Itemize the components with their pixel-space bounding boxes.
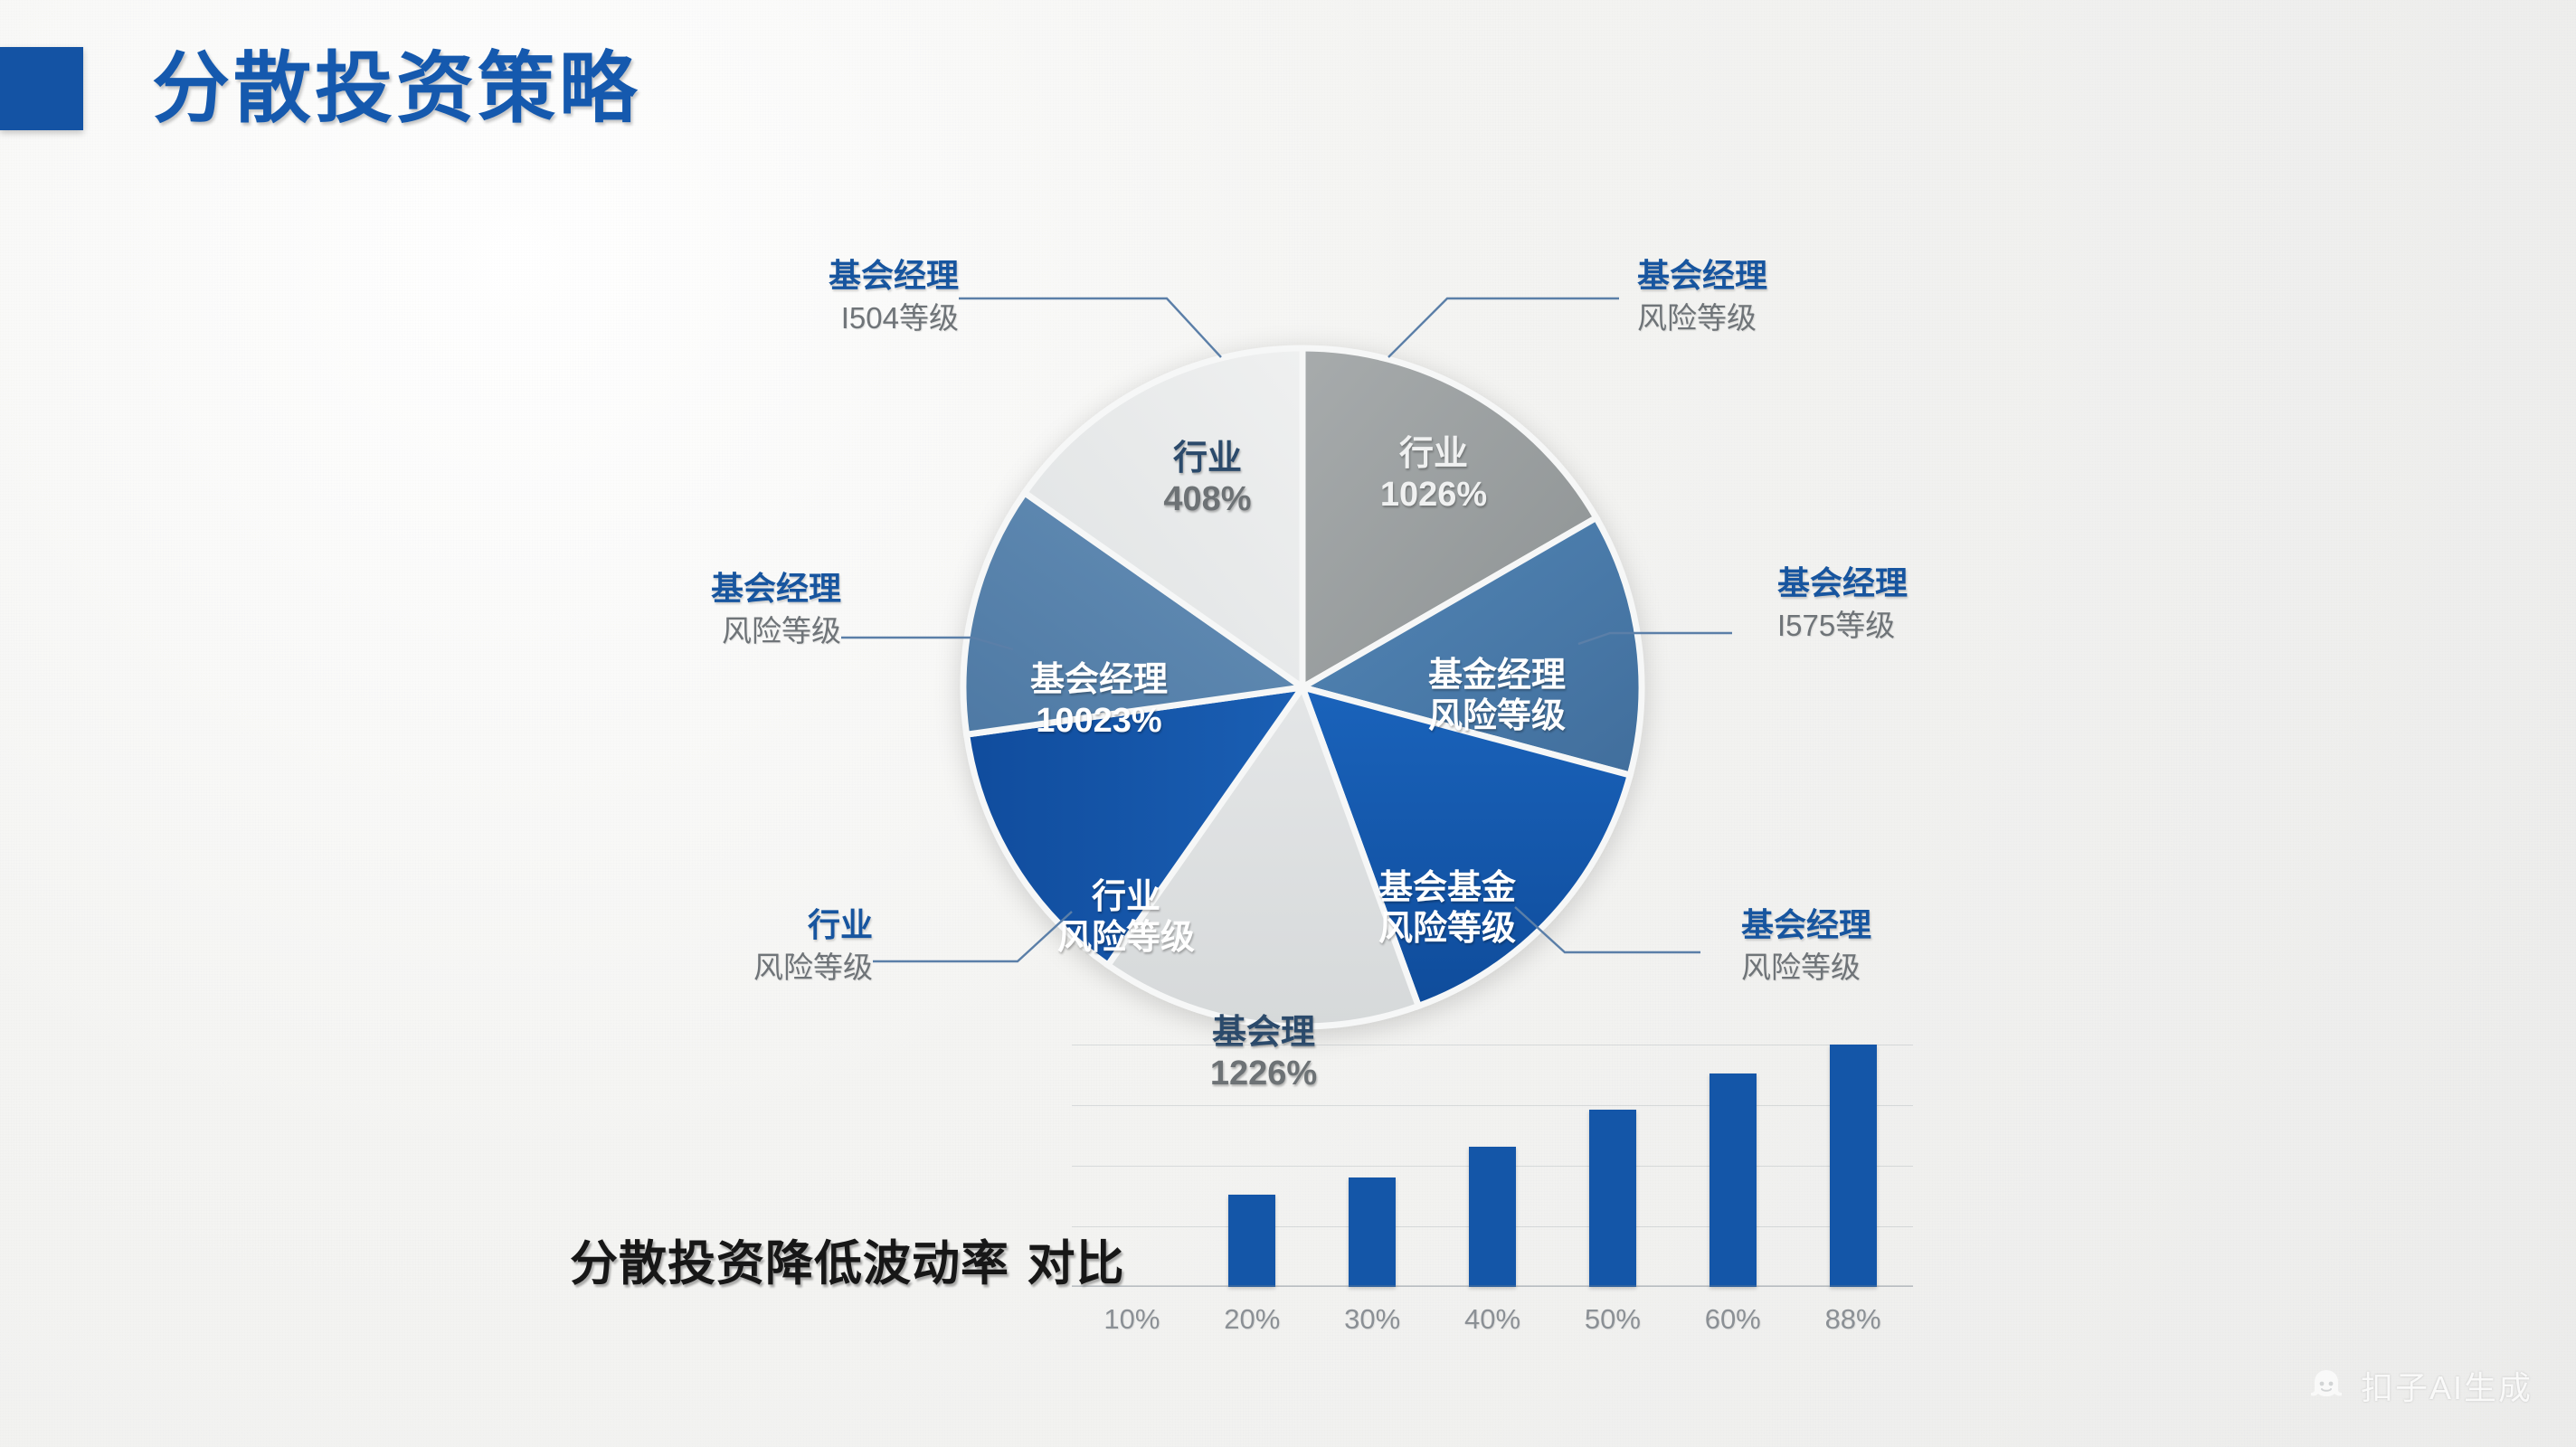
ghost-mascot-icon — [2306, 1366, 2346, 1405]
watermark-text: 扣子AI生成 — [2361, 1362, 2533, 1409]
callout-leader-lines — [0, 0, 2576, 1447]
slide-stage: 分散投资策略 — [0, 0, 2576, 1447]
watermark: 扣子AI生成 — [2306, 1362, 2533, 1409]
